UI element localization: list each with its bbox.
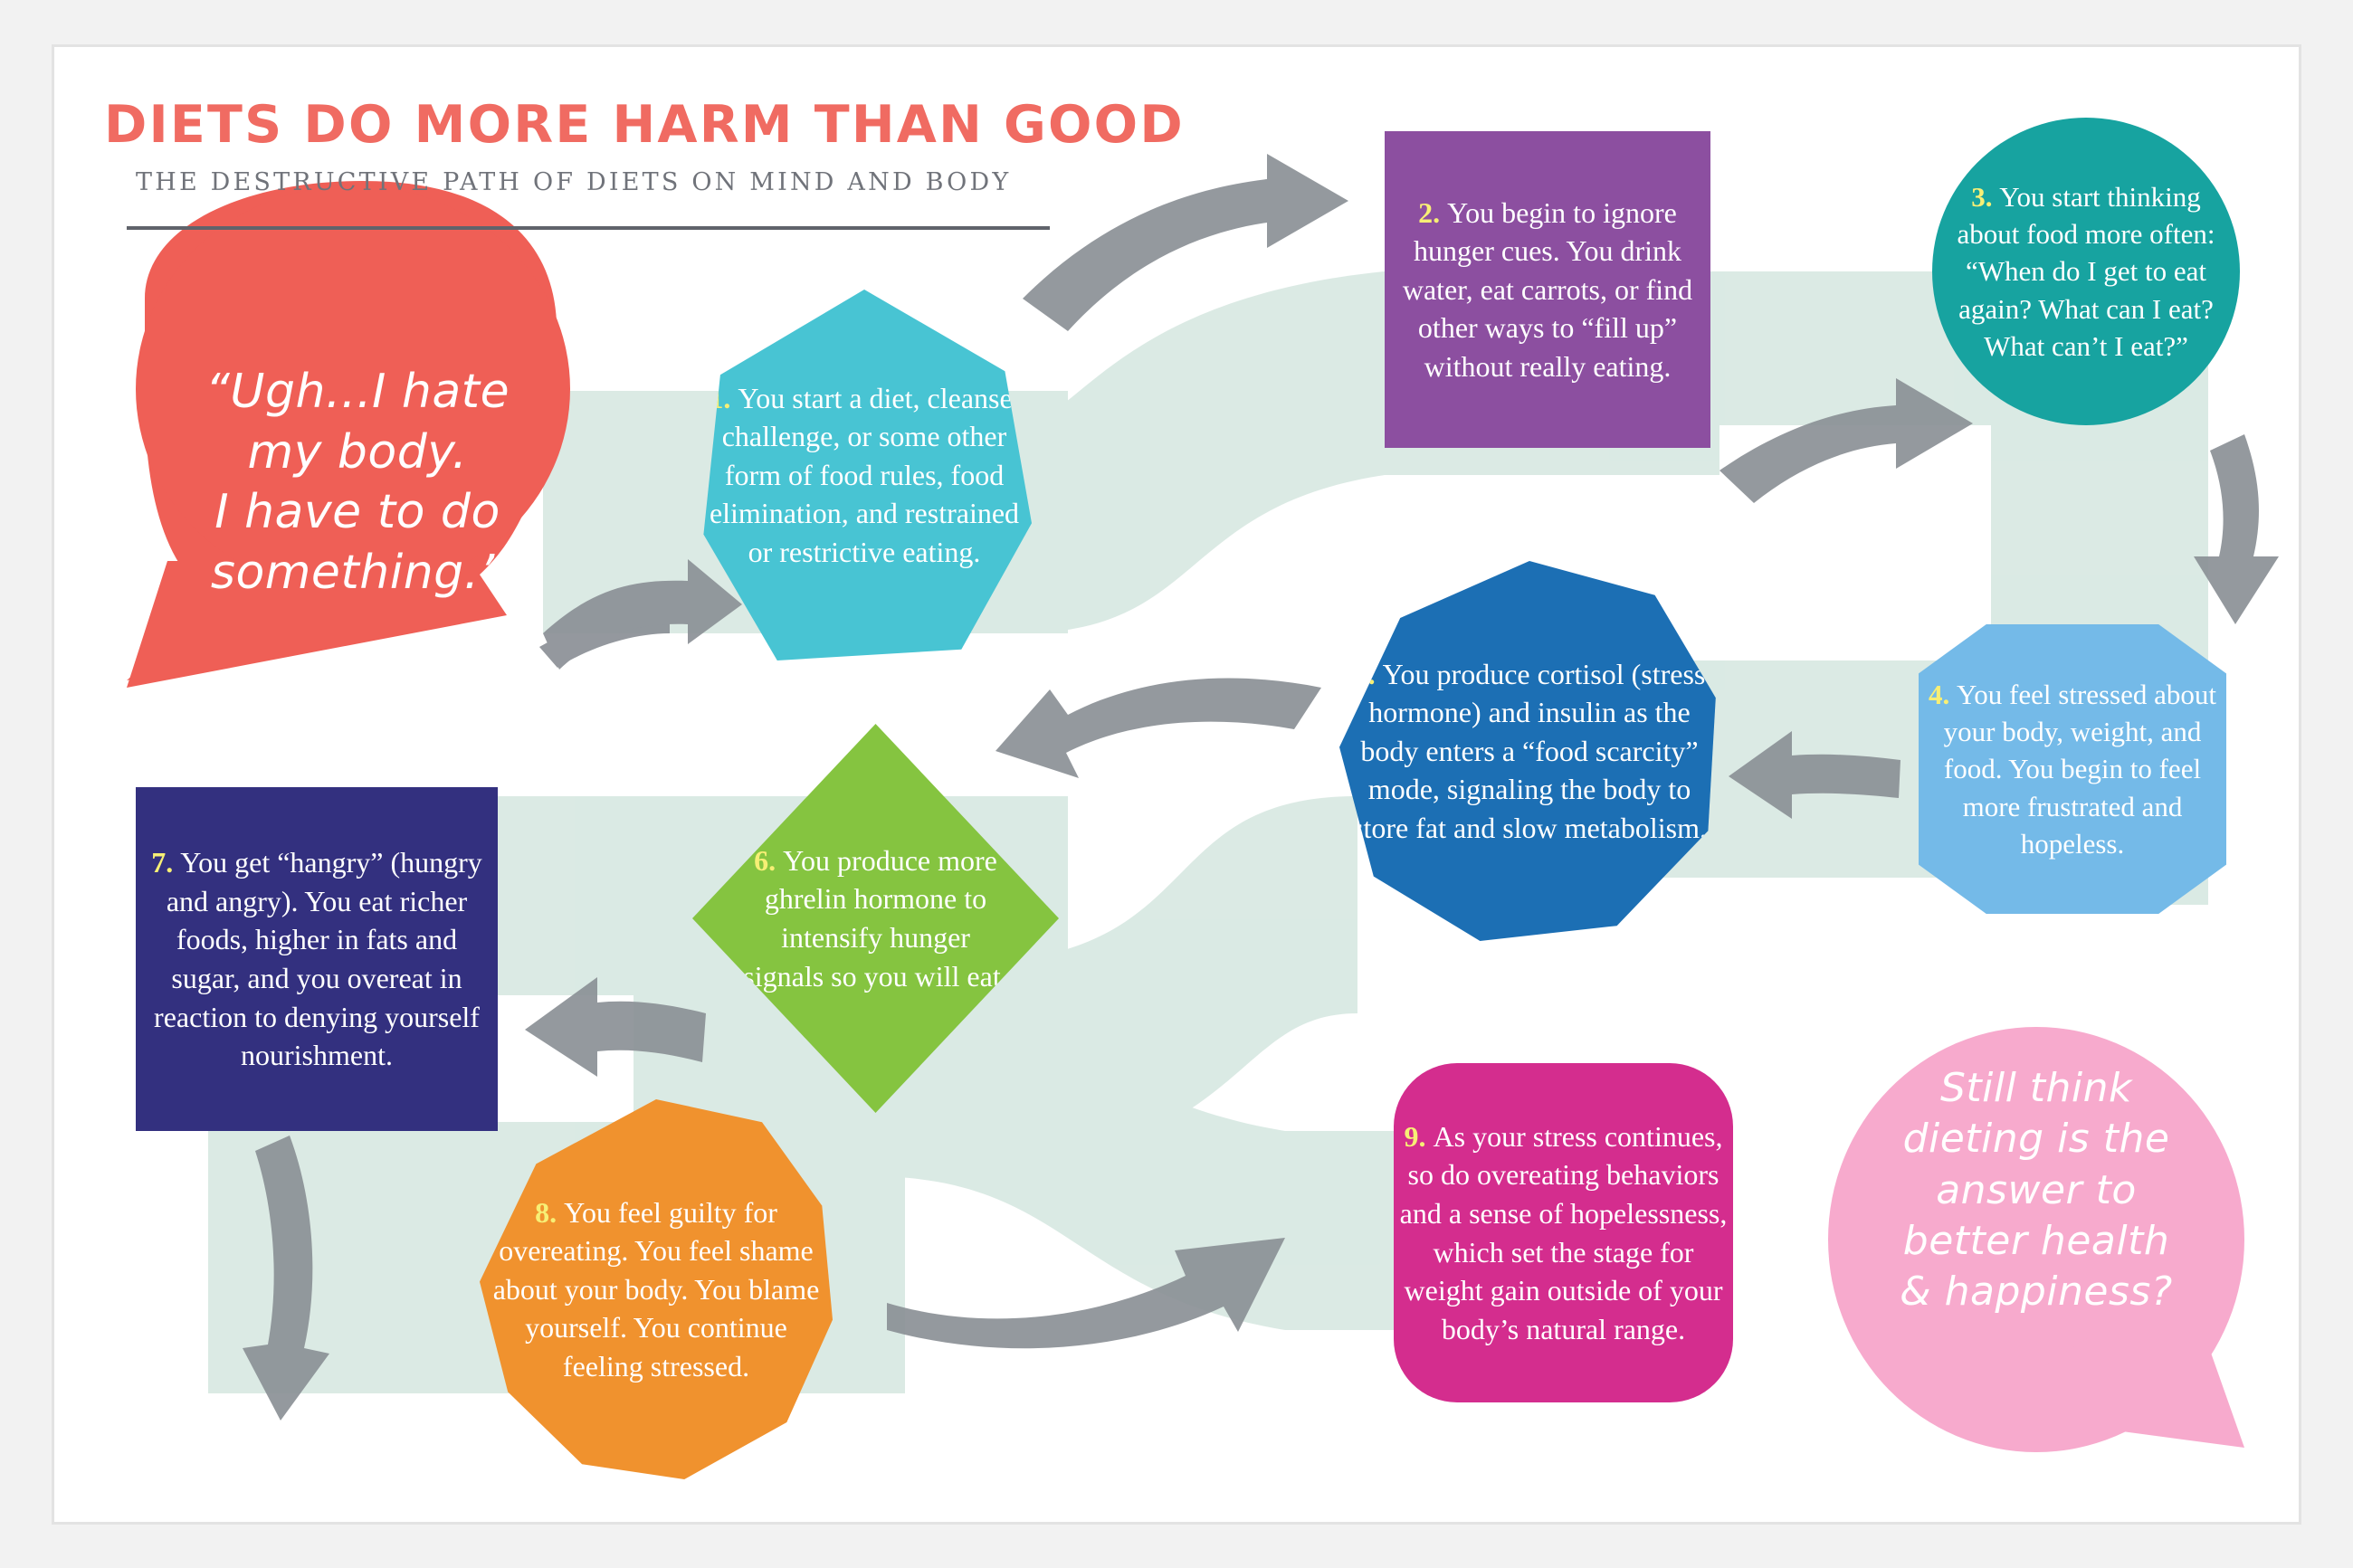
flow-arrows [0,0,2353,1568]
arrow-right-curve-icon [887,1238,1285,1348]
arrow-left-icon [525,977,706,1077]
infographic-canvas: “Ugh...I hate my body. I have to do some… [0,0,2353,1568]
arrow-right-curve-icon [539,559,742,670]
arrow-left-icon [1729,731,1900,819]
arrow-right-curve-icon [1023,154,1348,331]
arrow-right-curve-icon [1719,378,1973,503]
arrow-left-curve-icon [995,679,1321,778]
arrow-down-icon [2194,434,2279,624]
arrow-down-curve-icon [243,1136,329,1421]
